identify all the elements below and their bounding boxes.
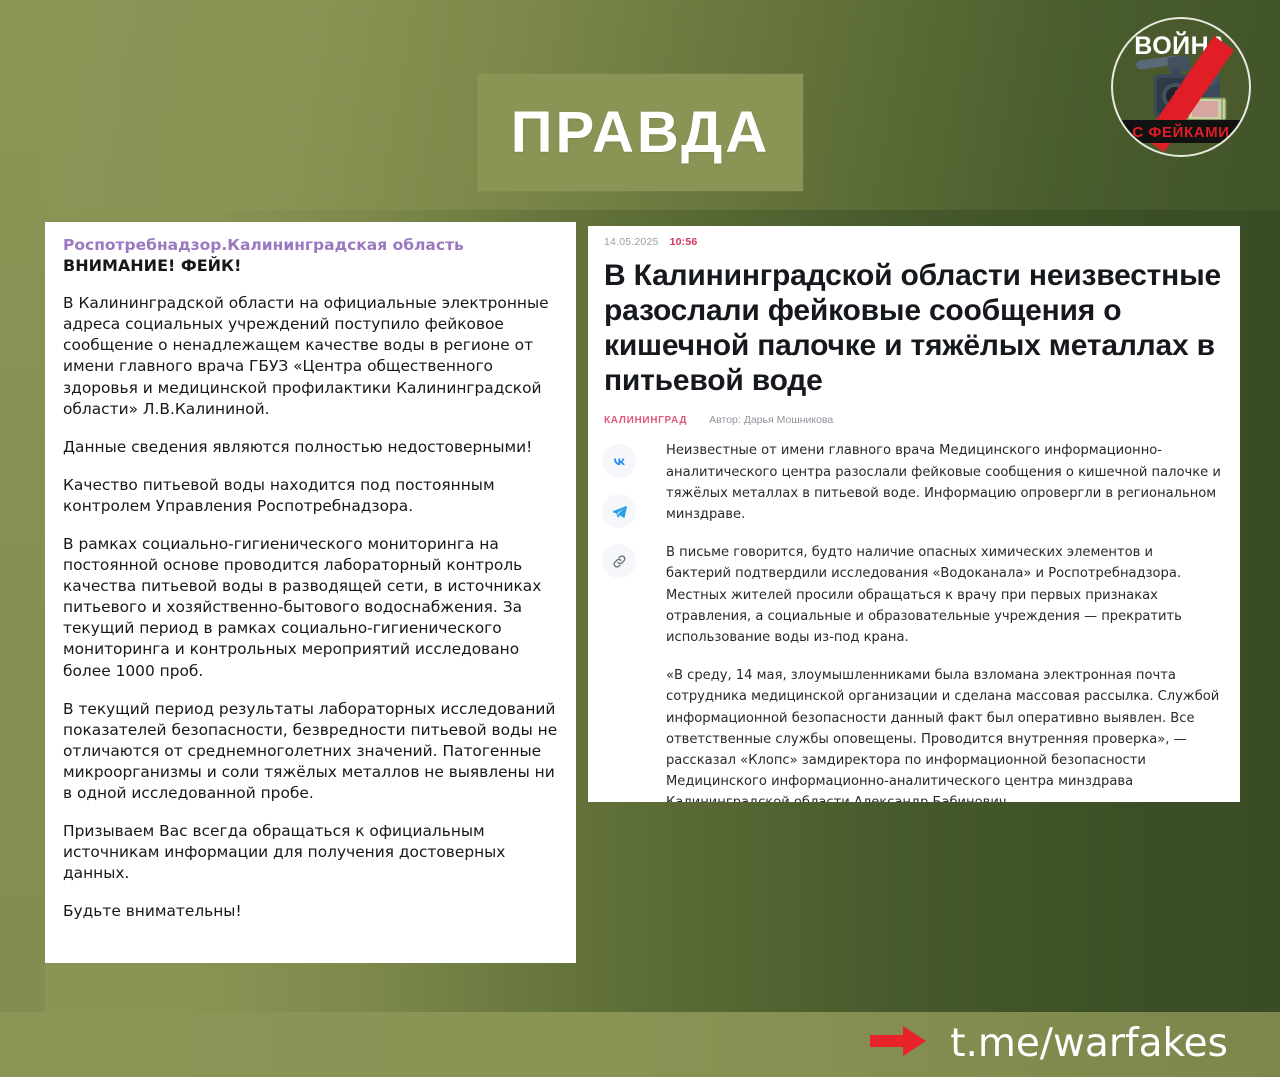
poster-canvas: ПРАВДА xyxy=(0,0,1280,1077)
footer-telegram-link[interactable]: t.me/warfakes xyxy=(870,1024,1228,1063)
article-meta: 14.05.2025 10:56 xyxy=(604,236,1222,248)
verdict-badge-label: ПРАВДА xyxy=(511,104,771,162)
article-date: 14.05.2025 xyxy=(604,236,659,248)
article-time: 10:56 xyxy=(670,236,698,248)
telegram-channel-name: Роспотребнадзор.Калининградская область xyxy=(63,236,558,255)
copy-link-button[interactable] xyxy=(602,544,636,578)
brand-logo: ВОЙНА С ФЕЙКАМИ xyxy=(1106,12,1256,162)
link-chain-icon xyxy=(611,553,628,570)
news-article-card: 14.05.2025 10:56 В Калининградской облас… xyxy=(588,226,1240,802)
post-paragraph: Данные сведения являются полностью недос… xyxy=(63,437,558,458)
article-byline: КАЛИНИНГРАД Автор: Дарья Мошникова xyxy=(604,414,1222,426)
post-paragraph: Будьте внимательны! xyxy=(63,901,558,922)
telegram-post-card: Роспотребнадзор.Калининградская область … xyxy=(45,222,576,963)
article-paragraph: В письме говорится, будто наличие опасны… xyxy=(666,542,1222,648)
telegram-icon xyxy=(611,503,628,520)
article-rubric[interactable]: КАЛИНИНГРАД xyxy=(604,415,687,426)
post-paragraph: В Калининградской области на официальные… xyxy=(63,293,558,420)
article-body: Неизвестные от имени главного врача Меди… xyxy=(666,440,1222,802)
post-paragraph: В текущий период результаты лабораторных… xyxy=(63,699,558,804)
share-rail xyxy=(602,440,646,802)
background-left-strip xyxy=(0,150,45,1012)
post-paragraph: Качество питьевой воды находится под пос… xyxy=(63,475,558,517)
verdict-badge: ПРАВДА xyxy=(478,74,803,191)
article-paragraph: Неизвестные от имени главного врача Меди… xyxy=(666,440,1222,525)
vk-share-button[interactable] xyxy=(602,444,636,478)
article-headline: В Калининградской области неизвестные ра… xyxy=(604,258,1222,398)
telegram-post-body: В Калининградской области на официальные… xyxy=(63,293,558,922)
footer-url-text: t.me/warfakes xyxy=(950,1024,1228,1063)
arrow-right-icon xyxy=(870,1024,928,1063)
telegram-share-button[interactable] xyxy=(602,494,636,528)
article-paragraph: «В среду, 14 мая, злоумышленниками была … xyxy=(666,665,1222,802)
post-paragraph: Призываем Вас всегда обращаться к официа… xyxy=(63,821,558,884)
logo-bottom-text: С ФЕЙКАМИ xyxy=(1132,123,1229,141)
article-author: Автор: Дарья Мошникова xyxy=(709,414,833,426)
post-paragraph: В рамках социально-гигиенического монито… xyxy=(63,534,558,682)
fake-alert-heading: ВНИМАНИЕ! ФЕЙК! xyxy=(63,256,558,277)
vk-icon xyxy=(611,453,628,470)
